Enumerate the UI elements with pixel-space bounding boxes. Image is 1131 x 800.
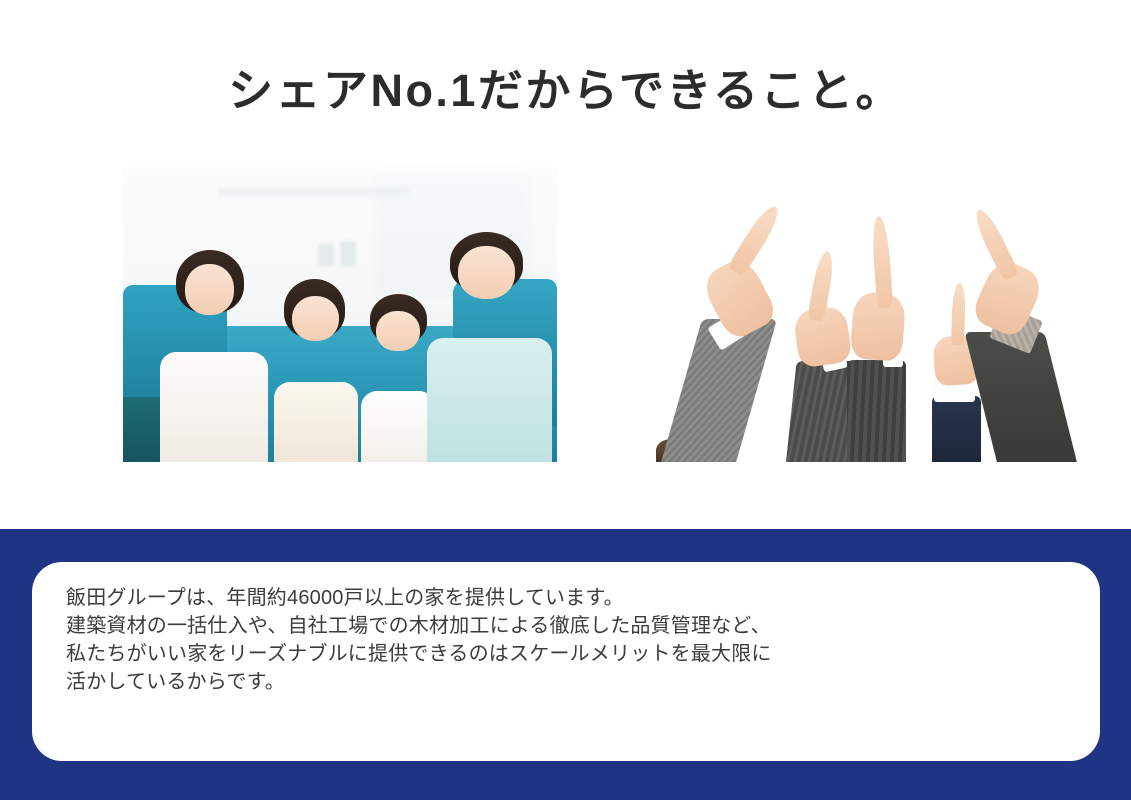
- photo-person-father: [427, 232, 557, 462]
- photo-person-girl: [271, 279, 366, 462]
- photo-person-torso: [274, 382, 358, 462]
- description-text: 飯田グループは、年間約46000戸以上の家を提供しています。 建築資材の一括仕入…: [66, 584, 1066, 696]
- photo-shelf: [218, 188, 409, 198]
- photo-person-head: [292, 296, 340, 342]
- photo-jar: [318, 244, 334, 266]
- page-root: シェアNo.1だからできること。: [0, 0, 1131, 800]
- photo-person-torso: [160, 352, 268, 462]
- family-photo: [123, 167, 557, 462]
- photo-person-head: [185, 264, 234, 315]
- raised-hand: [963, 211, 1084, 462]
- photo-person-mother: [158, 250, 275, 462]
- suit-sleeve: [964, 332, 1077, 462]
- photo-person-torso: [427, 338, 552, 462]
- raised-hands-photo: [652, 206, 1084, 462]
- photo-jar: [340, 241, 356, 267]
- description-card: 飯田グループは、年間約46000戸以上の家を提供しています。 建築資材の一括仕入…: [32, 562, 1100, 761]
- suit-sleeve: [847, 360, 905, 462]
- photo-person-head: [458, 246, 515, 299]
- photo-person-torso: [361, 391, 436, 462]
- photo-person-head: [376, 311, 419, 351]
- media-row: [0, 0, 1131, 520]
